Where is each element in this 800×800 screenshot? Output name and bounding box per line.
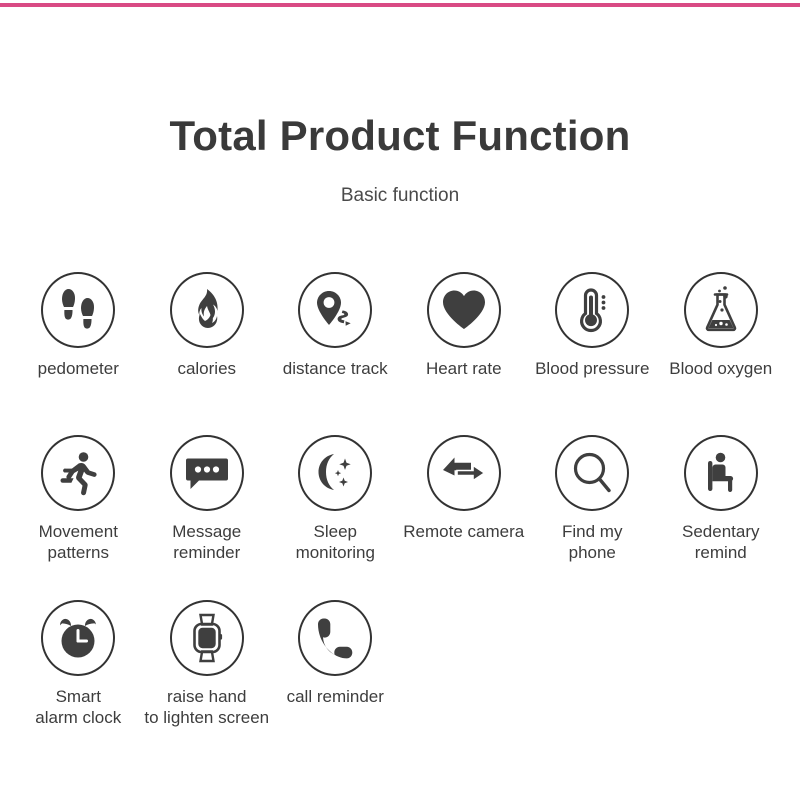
feature-label: call reminder xyxy=(268,687,403,708)
chat-bubble-icon xyxy=(170,435,244,511)
smartwatch-icon xyxy=(170,600,244,676)
running-person-icon xyxy=(41,435,115,511)
feature-message-reminder[interactable]: Message reminder xyxy=(143,435,272,563)
feature-call-reminder[interactable]: call reminder xyxy=(271,600,400,708)
feature-remote-camera[interactable]: Remote camera xyxy=(400,435,529,543)
feature-label: Movement patterns xyxy=(11,522,146,563)
page-title: Total Product Function xyxy=(0,112,800,160)
feature-smart-alarm-clock[interactable]: Smart alarm clock xyxy=(14,600,143,728)
feature-distance-track[interactable]: distance track xyxy=(271,272,400,380)
feature-find-my-phone[interactable]: Find my phone xyxy=(528,435,657,563)
feature-blood-oxygen[interactable]: Blood oxygen xyxy=(657,272,786,380)
feature-label: Smart alarm clock xyxy=(11,687,146,728)
feature-label: Sedentary remind xyxy=(653,522,788,563)
feature-label: Blood oxygen xyxy=(653,359,788,380)
feature-sedentary-remind[interactable]: Sedentary remind xyxy=(657,435,786,563)
top-accent-stripe xyxy=(0,3,800,7)
feature-blood-pressure[interactable]: Blood pressure xyxy=(528,272,657,380)
feature-calories[interactable]: calories xyxy=(143,272,272,380)
phone-handset-icon xyxy=(298,600,372,676)
flame-icon xyxy=(170,272,244,348)
feature-label: Heart rate xyxy=(396,359,531,380)
thermometer-icon xyxy=(555,272,629,348)
feature-label: distance track xyxy=(268,359,403,380)
feature-row: Movement patterns Message reminder xyxy=(14,435,786,600)
feature-label: Remote camera xyxy=(396,522,531,543)
map-pin-road-icon xyxy=(298,272,372,348)
alarm-clock-icon xyxy=(41,600,115,676)
feature-label: Message reminder xyxy=(139,522,274,563)
heart-icon xyxy=(427,272,501,348)
footprints-icon xyxy=(41,272,115,348)
feature-label: pedometer xyxy=(11,359,146,380)
feature-sleep-monitoring[interactable]: Sleep monitoring xyxy=(271,435,400,563)
feature-label: Sleep monitoring xyxy=(268,522,403,563)
product-function-poster: Total Product Function Basic function pe xyxy=(0,0,800,800)
two-arrows-icon xyxy=(427,435,501,511)
magnifier-icon xyxy=(555,435,629,511)
feature-heart-rate[interactable]: Heart rate xyxy=(400,272,529,380)
feature-row: pedometer calories xyxy=(14,272,786,435)
feature-row: Smart alarm clock raise hand to lighten … xyxy=(14,600,786,765)
flask-icon xyxy=(684,272,758,348)
feature-label: calories xyxy=(139,359,274,380)
feature-movement-patterns[interactable]: Movement patterns xyxy=(14,435,143,563)
feature-label: Blood pressure xyxy=(525,359,660,380)
page-subtitle: Basic function xyxy=(0,185,800,207)
seated-person-icon xyxy=(684,435,758,511)
feature-raise-hand-to-lighten-screen[interactable]: raise hand to lighten screen xyxy=(143,600,272,728)
feature-label: raise hand to lighten screen xyxy=(139,687,274,728)
feature-label: Find my phone xyxy=(525,522,660,563)
moon-stars-icon xyxy=(298,435,372,511)
feature-grid: pedometer calories xyxy=(14,272,786,765)
feature-pedometer[interactable]: pedometer xyxy=(14,272,143,380)
